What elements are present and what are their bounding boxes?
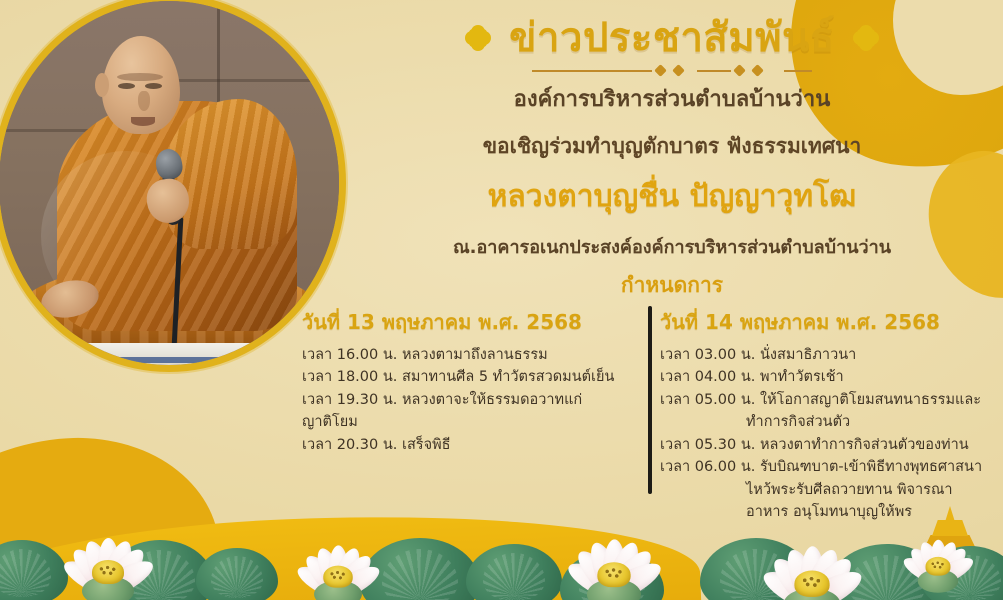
schedule-item: ไหว้พระรับศีลถวายทาน พิจารณา xyxy=(660,479,990,501)
day2-item-list: เวลา 03.00 น. นั่งสมาธิภาวนาเวลา 04.00 น… xyxy=(660,344,990,524)
invitation-line: ขอเชิญร่วมทำบุญตักบาตร ฟังธรรมเทศนา xyxy=(352,130,992,163)
lotus-leaf xyxy=(106,540,214,600)
schedule-column-day2: วันที่ 14 พฤษภาคม พ.ศ. 2568 เวลา 03.00 น… xyxy=(640,306,990,524)
monk-photo xyxy=(0,1,339,365)
page-title: ข่าวประชาสัมพันธ์ xyxy=(509,16,835,60)
schedule-item: เวลา 03.00 น. นั่งสมาธิภาวนา xyxy=(660,344,990,366)
lotus-leaf xyxy=(828,544,946,600)
seat-cushion xyxy=(43,343,293,369)
schedule-item: ทำการกิจส่วนตัว xyxy=(660,411,990,433)
venue-line: ณ.อาคารอเนกประสงค์องค์การบริหารส่วนตำบลบ… xyxy=(352,232,992,261)
seat-cushion-band xyxy=(55,357,281,363)
gold-blob-bottom-left xyxy=(0,423,232,600)
schedule-item: อาหาร อนุโมทนาบุญให้พร xyxy=(660,501,990,523)
agenda-heading: กำหนดการ xyxy=(352,269,992,302)
lotus-flower xyxy=(560,514,668,599)
lotus-leaf xyxy=(560,550,664,600)
lotus-leaf xyxy=(922,546,1003,600)
schedule-item: เวลา 05.30 น. หลวงตาทำการกิจส่วนตัวของท่… xyxy=(660,434,990,456)
monk-name: หลวงตาบุญชื่น ปัญญาวุทโฒ xyxy=(352,173,992,220)
poster-header: ข่าวประชาสัมพันธ์ องค์การบริหารส่วนตำบลบ… xyxy=(352,16,992,302)
day1-item-list: เวลา 16.00 น. หลวงตามาถึงลานธรรมเวลา 18.… xyxy=(290,344,626,456)
lotus-leaf xyxy=(700,538,812,600)
lotus-flower xyxy=(897,521,978,585)
lotus-flower xyxy=(755,520,869,600)
ornamental-divider-icon xyxy=(522,65,822,77)
lotus-flower xyxy=(290,523,386,598)
lotus-leaf xyxy=(360,538,480,600)
schedule-column-day1: วันที่ 13 พฤษภาคม พ.ศ. 2568 เวลา 16.00 น… xyxy=(290,306,640,524)
monk-mouth xyxy=(131,117,155,126)
monk-eye-right xyxy=(145,83,162,89)
schedule-item: เวลา 04.00 น. พาทำวัตรเช้า xyxy=(660,366,990,388)
schedule-item: เวลา 20.30 น. เสร็จพิธี xyxy=(290,434,626,456)
schedule-section: วันที่ 13 พฤษภาคม พ.ศ. 2568 เวลา 16.00 น… xyxy=(290,306,995,524)
lotus-leaf xyxy=(466,544,562,600)
lotus-leaf xyxy=(0,540,68,600)
quatrefoil-ornament-icon xyxy=(853,25,879,51)
title-row: ข่าวประชาสัมพันธ์ xyxy=(352,16,992,60)
monk-ear xyxy=(95,73,109,97)
lotus-flower xyxy=(56,514,160,596)
lotus-leaf xyxy=(196,548,278,600)
day1-heading: วันที่ 13 พฤษภาคม พ.ศ. 2568 xyxy=(290,306,626,338)
monk-eye-left xyxy=(118,83,135,89)
schedule-item: เวลา 16.00 น. หลวงตามาถึงลานธรรม xyxy=(290,344,626,366)
monk-nose xyxy=(138,91,150,111)
quatrefoil-ornament-icon xyxy=(465,25,491,51)
schedule-item: เวลา 06.00 น. รับบิณฑบาต-เข้าพิธีทางพุทธ… xyxy=(660,456,990,478)
schedule-item: เวลา 19.30 น. หลวงตาจะให้ธรรมดอวาทแก่ญาต… xyxy=(290,389,626,434)
day2-heading: วันที่ 14 พฤษภาคม พ.ศ. 2568 xyxy=(660,306,990,338)
schedule-item: เวลา 05.00 น. ให้โอกาสญาติโยมสนทนาธรรมแล… xyxy=(660,389,990,411)
schedule-item: เวลา 18.00 น. สมาทานศีล 5 ทำวัตรสวดมนต์เ… xyxy=(290,366,626,388)
monk-brow xyxy=(117,73,163,81)
announcement-poster: ข่าวประชาสัมพันธ์ องค์การบริหารส่วนตำบลบ… xyxy=(0,0,1003,600)
organization-name: องค์การบริหารส่วนตำบลบ้านว่าน xyxy=(352,81,992,116)
